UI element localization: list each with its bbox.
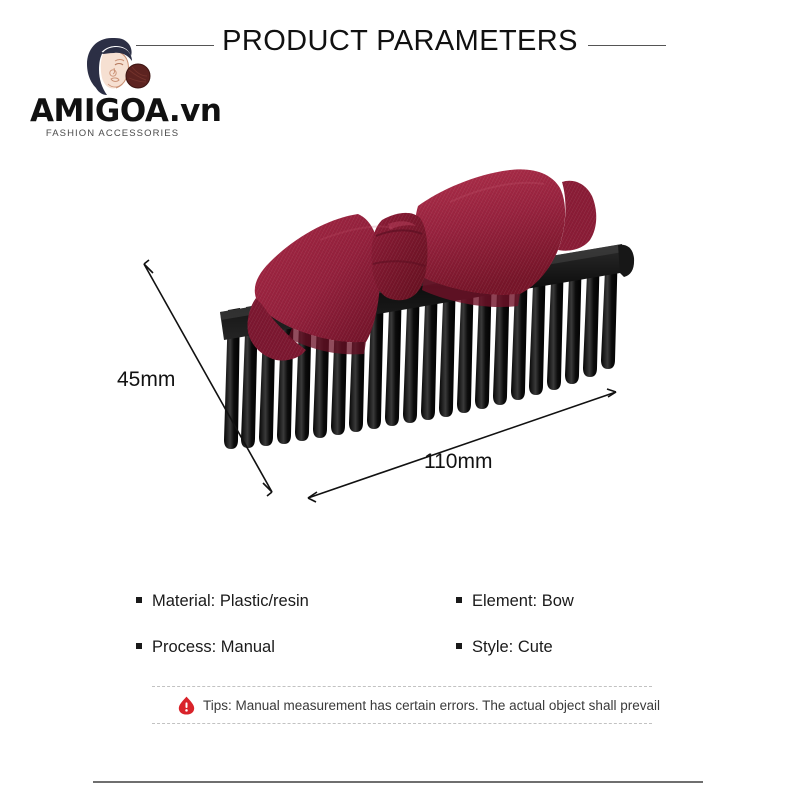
tips-divider-bottom <box>152 723 652 724</box>
footer-rule <box>93 781 703 783</box>
product-photo-stage <box>120 140 680 520</box>
square-bullet-icon <box>456 597 462 603</box>
spec-row: Material: Plastic/resin Element: Bow <box>136 592 666 638</box>
spec-row: Process: Manual Style: Cute <box>136 638 666 684</box>
dimension-height-label: 45mm <box>117 368 175 392</box>
square-bullet-icon <box>456 643 462 649</box>
dimension-width-label: 110mm <box>424 450 492 474</box>
spec-list: Material: Plastic/resin Element: Bow Pro… <box>136 592 666 684</box>
square-bullet-icon <box>136 597 142 603</box>
spec-item-material: Material: Plastic/resin <box>136 592 456 611</box>
tips-row: Tips: Manual measurement has certain err… <box>152 687 652 723</box>
spec-item-process: Process: Manual <box>136 638 456 657</box>
spec-item-label: Style: Cute <box>472 638 553 657</box>
bow-hair-comb-photo <box>120 140 680 520</box>
page-title: PRODUCT PARAMETERS <box>0 26 800 58</box>
brand-wordmark: AMIGOA.vn <box>30 96 195 127</box>
spec-item-element: Element: Bow <box>456 592 666 611</box>
warning-exclamation-icon <box>178 696 195 715</box>
tips-block: Tips: Manual measurement has certain err… <box>152 686 652 724</box>
tips-text: Tips: Manual measurement has certain err… <box>203 698 660 713</box>
title-rule-right <box>588 45 666 46</box>
square-bullet-icon <box>136 643 142 649</box>
brand-tagline: FASHION ACCESSORIES <box>30 129 195 139</box>
spec-item-label: Material: Plastic/resin <box>152 592 309 611</box>
spec-item-style: Style: Cute <box>456 638 666 657</box>
spec-item-label: Process: Manual <box>152 638 275 657</box>
spec-item-label: Element: Bow <box>472 592 574 611</box>
title-rule-left <box>136 45 214 46</box>
